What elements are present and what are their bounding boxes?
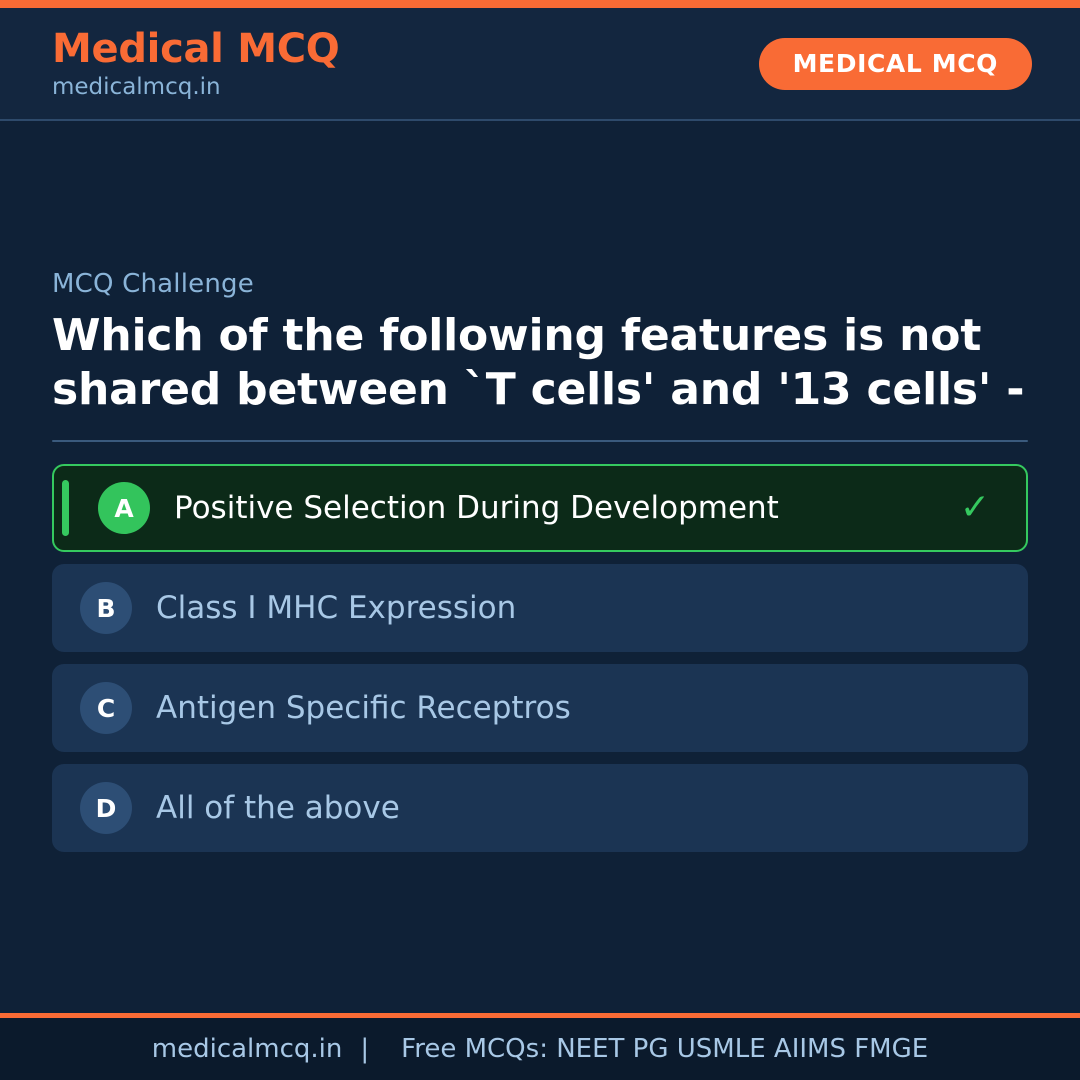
top-accent-rule [0, 0, 1080, 8]
option-b-text: Class I MHC Expression [156, 591, 1000, 625]
option-c-text: Antigen Specific Receptros [156, 691, 1000, 725]
footer-separator: | [342, 1036, 387, 1062]
footer-exams-label: Free MCQs: NEET PG USMLE AIIMS FMGE [387, 1036, 928, 1062]
question-text: Which of the following features is not s… [52, 309, 1028, 416]
options-list: A Positive Selection During Development … [52, 464, 1028, 852]
option-d[interactable]: D All of the above [52, 764, 1028, 852]
option-b[interactable]: B Class I MHC Expression [52, 564, 1028, 652]
question-block: MCQ Challenge Which of the following fea… [52, 269, 1028, 852]
option-d-text: All of the above [156, 791, 1000, 825]
check-icon: ✓ [960, 490, 990, 526]
header-bar: Medical MCQ medicalmcq.in MEDICAL MCQ [0, 8, 1080, 121]
question-divider [52, 440, 1028, 442]
footer-site-link[interactable]: medicalmcq.in [152, 1036, 343, 1062]
option-b-letter-badge: B [80, 582, 132, 634]
option-c-letter-badge: C [80, 682, 132, 734]
option-c[interactable]: C Antigen Specific Receptros [52, 664, 1028, 752]
mcq-card: Medical MCQ medicalmcq.in MEDICAL MCQ MC… [0, 0, 1080, 1080]
option-d-letter-badge: D [80, 782, 132, 834]
option-a-text: Positive Selection During Development [174, 491, 960, 525]
header-badge[interactable]: MEDICAL MCQ [759, 38, 1032, 90]
option-a[interactable]: A Positive Selection During Development … [52, 464, 1028, 552]
brand-subtitle: medicalmcq.in [52, 74, 339, 102]
footer-bar: medicalmcq.in | Free MCQs: NEET PG USMLE… [0, 1018, 1080, 1080]
correct-accent-bar [62, 480, 69, 536]
brand-block: Medical MCQ medicalmcq.in [52, 28, 339, 102]
brand-title: Medical MCQ [52, 28, 339, 70]
main-content: MCQ Challenge Which of the following fea… [0, 121, 1080, 1013]
option-a-letter-badge: A [98, 482, 150, 534]
eyebrow-label: MCQ Challenge [52, 269, 1028, 299]
